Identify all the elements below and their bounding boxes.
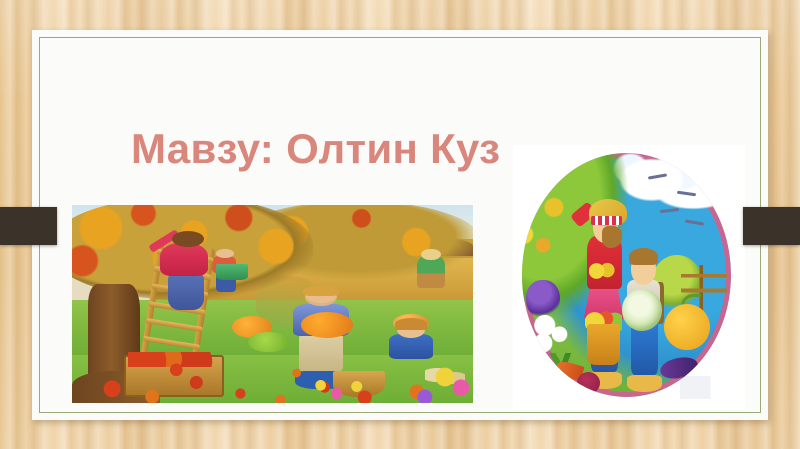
green-bucket (216, 264, 248, 280)
hat-band (591, 216, 622, 225)
daisies (531, 314, 577, 358)
apple-picker-head (172, 231, 204, 247)
watermark (680, 376, 731, 400)
apple-picker-legs (168, 272, 204, 310)
right-accent-bar (743, 207, 800, 245)
wildflowers (72, 344, 473, 403)
slide-frame: Мавзу: Олтин Куз (32, 30, 768, 420)
beetroot (577, 372, 600, 394)
autumn-harvest-artwork (72, 205, 473, 403)
boy-hair (629, 248, 658, 265)
pumpkin-boy-hair (303, 286, 339, 296)
held-pears (589, 260, 616, 282)
oval-vignette (522, 153, 731, 397)
left-accent-bar (0, 207, 57, 245)
apple-picker-body (160, 243, 208, 277)
children-with-harvest-image[interactable] (513, 145, 745, 410)
presentation-slide: Мавзу: Олтин Куз (0, 0, 800, 449)
children-harvest-artwork (513, 145, 745, 410)
autumn-harvest-image[interactable] (72, 205, 473, 403)
distant-child-body (417, 256, 445, 288)
page-title: Мавзу: Олтин Куз (131, 126, 500, 172)
cabbage (622, 289, 662, 330)
boy-shoes (627, 375, 662, 392)
yellow-pumpkin (664, 304, 710, 350)
slide-content: Мавзу: Олтин Куз (32, 30, 768, 420)
